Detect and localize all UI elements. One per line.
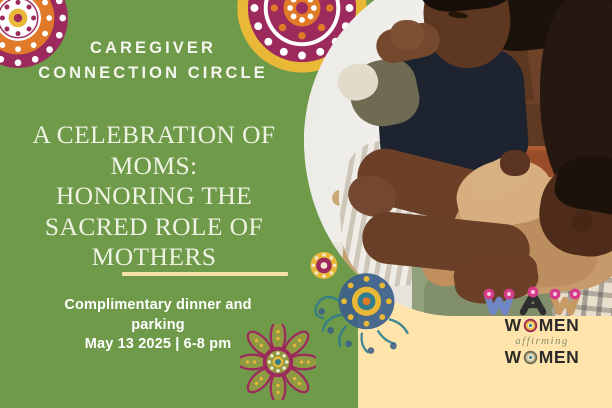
logo-women-top-prefix: W <box>505 316 522 335</box>
logo-word-women-bottom: W MEN <box>481 348 603 367</box>
headline-line-2: MOMS: <box>4 151 304 182</box>
mandala-o-top-icon <box>523 318 538 333</box>
mandala-cluster-center-icon <box>306 252 418 364</box>
organization-logo: W MEN affirming W MEN <box>481 286 603 370</box>
details-line-3: May 13 2025 | 6-8 pm <box>8 335 308 355</box>
headline-line-5: MOTHERS <box>4 242 304 273</box>
gold-divider <box>122 272 288 276</box>
logo-women-bottom-suffix: MEN <box>539 348 580 367</box>
page-title: A CELEBRATION OF MOMS: HONORING THE SACR… <box>4 120 304 273</box>
kicker-line-1: CAREGIVER <box>0 36 306 61</box>
photo-baby-ear <box>572 210 592 232</box>
photo-toddler-hand <box>390 20 424 50</box>
waw-monogram-icon <box>481 286 603 316</box>
headline-line-1: A CELEBRATION OF <box>4 120 304 151</box>
logo-women-top-suffix: MEN <box>539 316 580 335</box>
logo-women-bottom-prefix: W <box>505 348 522 367</box>
photo-baby-hand <box>500 150 530 176</box>
event-details: Complimentary dinner and parking May 13 … <box>8 296 308 355</box>
headline-line-3: HONORING THE <box>4 181 304 212</box>
flyer-canvas: CAREGIVER CONNECTION CIRCLE A CELEBRATIO… <box>0 0 612 408</box>
mandala-o-bottom-icon <box>523 350 538 365</box>
logo-word-women-top: W MEN <box>481 316 603 335</box>
details-line-1: Complimentary dinner and <box>8 296 308 316</box>
headline-line-4: SACRED ROLE OF <box>4 212 304 243</box>
kicker-heading: CAREGIVER CONNECTION CIRCLE <box>0 36 306 86</box>
details-line-2: parking <box>8 316 308 336</box>
kicker-line-2: CONNECTION CIRCLE <box>0 61 306 86</box>
